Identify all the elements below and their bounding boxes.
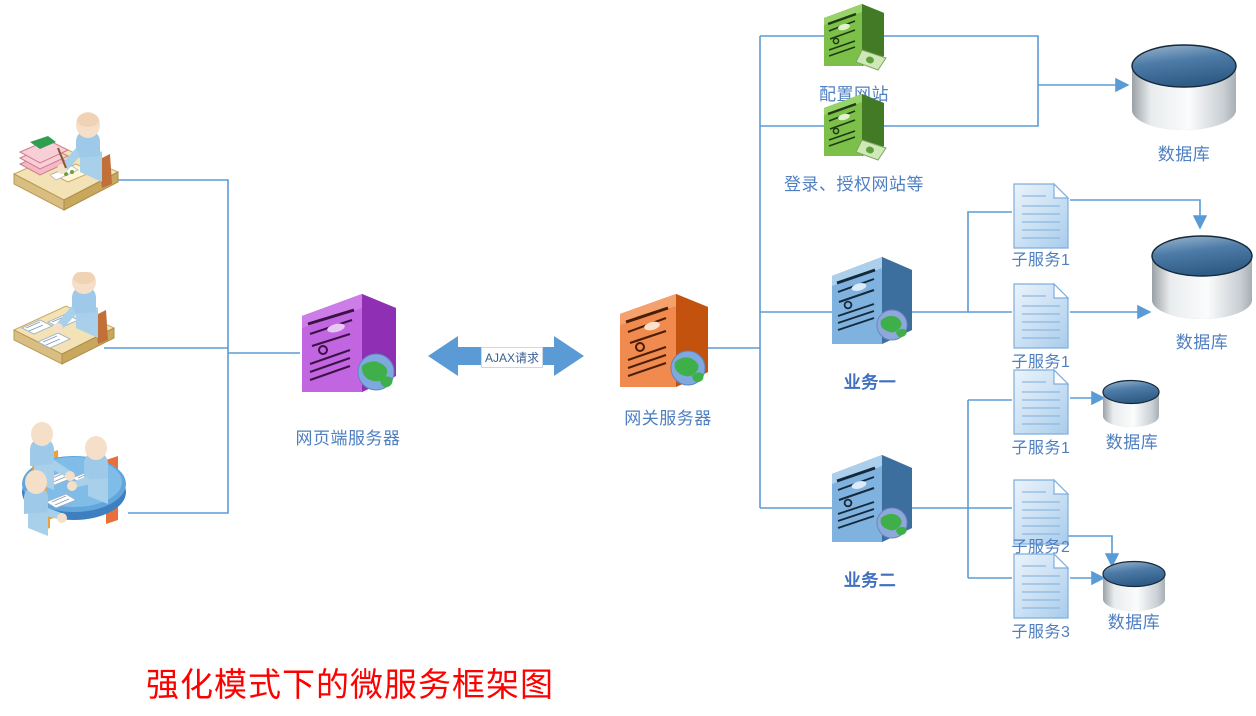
- sub-service-label-1a: 子服务1: [996, 246, 1086, 270]
- meeting-table-group: [6, 420, 142, 560]
- database-label-4: 数据库: [1086, 608, 1182, 633]
- database-label-2: 数据库: [1148, 328, 1256, 353]
- database-cylinder-icon-3: [1100, 376, 1162, 432]
- database-cylinder-icon-4: [1100, 556, 1168, 616]
- server-icon-business-two: [820, 450, 920, 558]
- document-icon-sub-service-3: [1012, 552, 1070, 620]
- database-cylinder-icon-1: [1128, 36, 1240, 138]
- diagram-title: 强化模式下的微服务框架图: [146, 658, 554, 706]
- server-label-web: 网页端服务器: [278, 424, 418, 449]
- ajax-request-label: AJAX请求: [481, 347, 543, 368]
- database-label-1: 数据库: [1128, 140, 1240, 165]
- server-icon-gateway: [608, 288, 718, 404]
- server-icon-auth-site: [814, 90, 894, 168]
- server-label-gateway: 网关服务器: [598, 404, 738, 429]
- document-icon-sub-service-1a: [1012, 182, 1070, 250]
- server-icon-config-site: [814, 0, 894, 78]
- server-label-auth-site: 登录、授权网站等: [764, 170, 944, 195]
- desk-worker-reviewing: [8, 272, 120, 368]
- document-icon-sub-service-1b: [1012, 282, 1070, 350]
- sub-service-label-2a: 子服务1: [996, 434, 1086, 458]
- sub-service-label-3: 子服务3: [996, 618, 1086, 642]
- database-label-3: 数据库: [1084, 428, 1180, 453]
- server-icon-business-one: [820, 252, 920, 360]
- document-icon-sub-service-2a: [1012, 368, 1070, 436]
- server-label-business-two: 业务二: [820, 566, 920, 591]
- diagram-canvas: 网页端服务器 AJAX请求 网关服务器: [0, 0, 1256, 716]
- server-icon-web: [288, 288, 408, 410]
- server-label-business-one: 业务一: [820, 368, 920, 393]
- desk-worker-with-papers: [6, 112, 124, 212]
- database-cylinder-icon-2: [1148, 228, 1256, 326]
